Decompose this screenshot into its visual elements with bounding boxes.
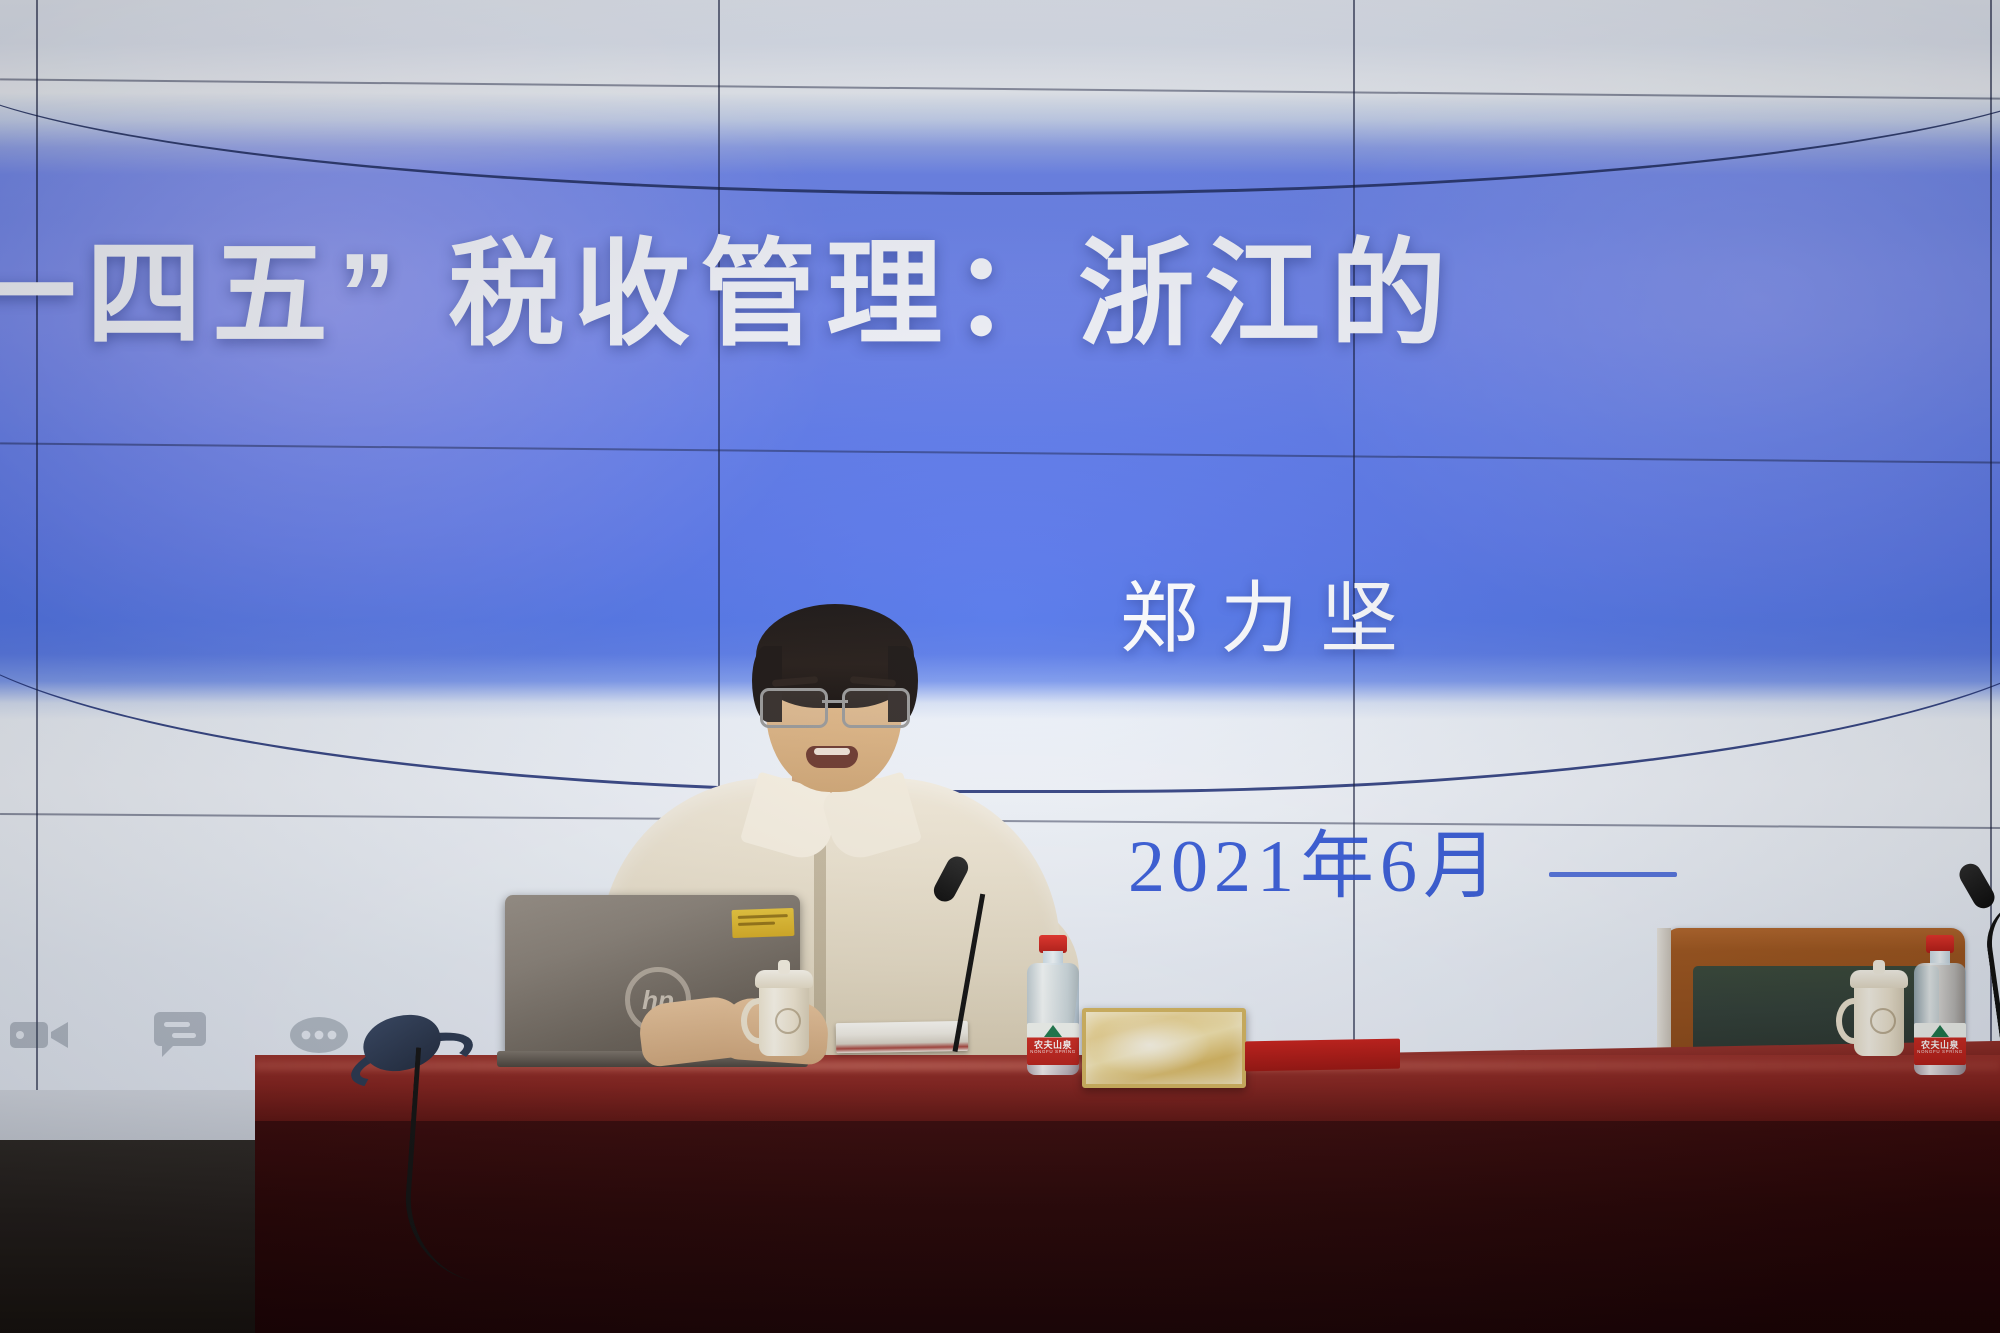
microphone-head	[930, 853, 972, 906]
bottle-label: 农夫山泉 NONGFU SPRING	[1027, 1023, 1079, 1065]
mug-knob	[1873, 960, 1885, 974]
more-options-icon[interactable]	[290, 1015, 348, 1055]
microphone-head	[1955, 860, 1998, 913]
video-camera-icon[interactable]	[10, 1016, 70, 1054]
mug-left[interactable]	[753, 960, 815, 1056]
microphone-left[interactable]	[880, 855, 1010, 1055]
meeting-toolbar	[10, 1012, 348, 1058]
person-mouth	[806, 746, 858, 768]
eyeglass-lens-left	[760, 688, 828, 728]
mug-knob	[778, 960, 790, 974]
laptop-asset-sticker	[732, 908, 795, 938]
wall-seam-vertical	[36, 0, 38, 1090]
slide-date: 2021年6月	[1128, 806, 1677, 913]
slide-speaker-name: 郑力坚	[1120, 556, 1420, 668]
wall-seam-horizontal	[0, 442, 2000, 463]
microphone-arm	[1981, 900, 2000, 1063]
microphone-right[interactable]	[1900, 862, 2000, 1062]
water-bottle-left[interactable]: 农夫山泉 NONGFU SPRING	[1025, 935, 1081, 1075]
mug-emblem	[1870, 1008, 1896, 1034]
chat-bubble-icon[interactable]	[154, 1012, 206, 1058]
slide-date-rule	[1549, 872, 1677, 877]
eyeglass-lens-right	[842, 688, 910, 728]
head-table	[255, 1055, 2000, 1333]
slide-title: 一四五” 税收管理：浙江的	[0, 232, 2000, 357]
slide-date-text: 2021年6月	[1128, 826, 1503, 908]
red-mat	[1245, 1039, 1400, 1072]
table-skirt	[255, 1121, 2000, 1333]
eyeglasses	[760, 688, 910, 722]
bottle-mountain-icon	[1044, 1025, 1062, 1037]
nameplate[interactable]	[1082, 1008, 1246, 1088]
wall-seam-vertical	[1353, 0, 1355, 1090]
bottle-brand-en: NONGFU SPRING	[1027, 1049, 1079, 1054]
slide-curve-top	[0, 52, 2000, 195]
screenshot-root: 一四五” 税收管理：浙江的 郑力坚 2021年6月	[0, 0, 2000, 1333]
mug-emblem	[775, 1008, 801, 1034]
nameplate-glare	[1091, 1017, 1237, 1079]
